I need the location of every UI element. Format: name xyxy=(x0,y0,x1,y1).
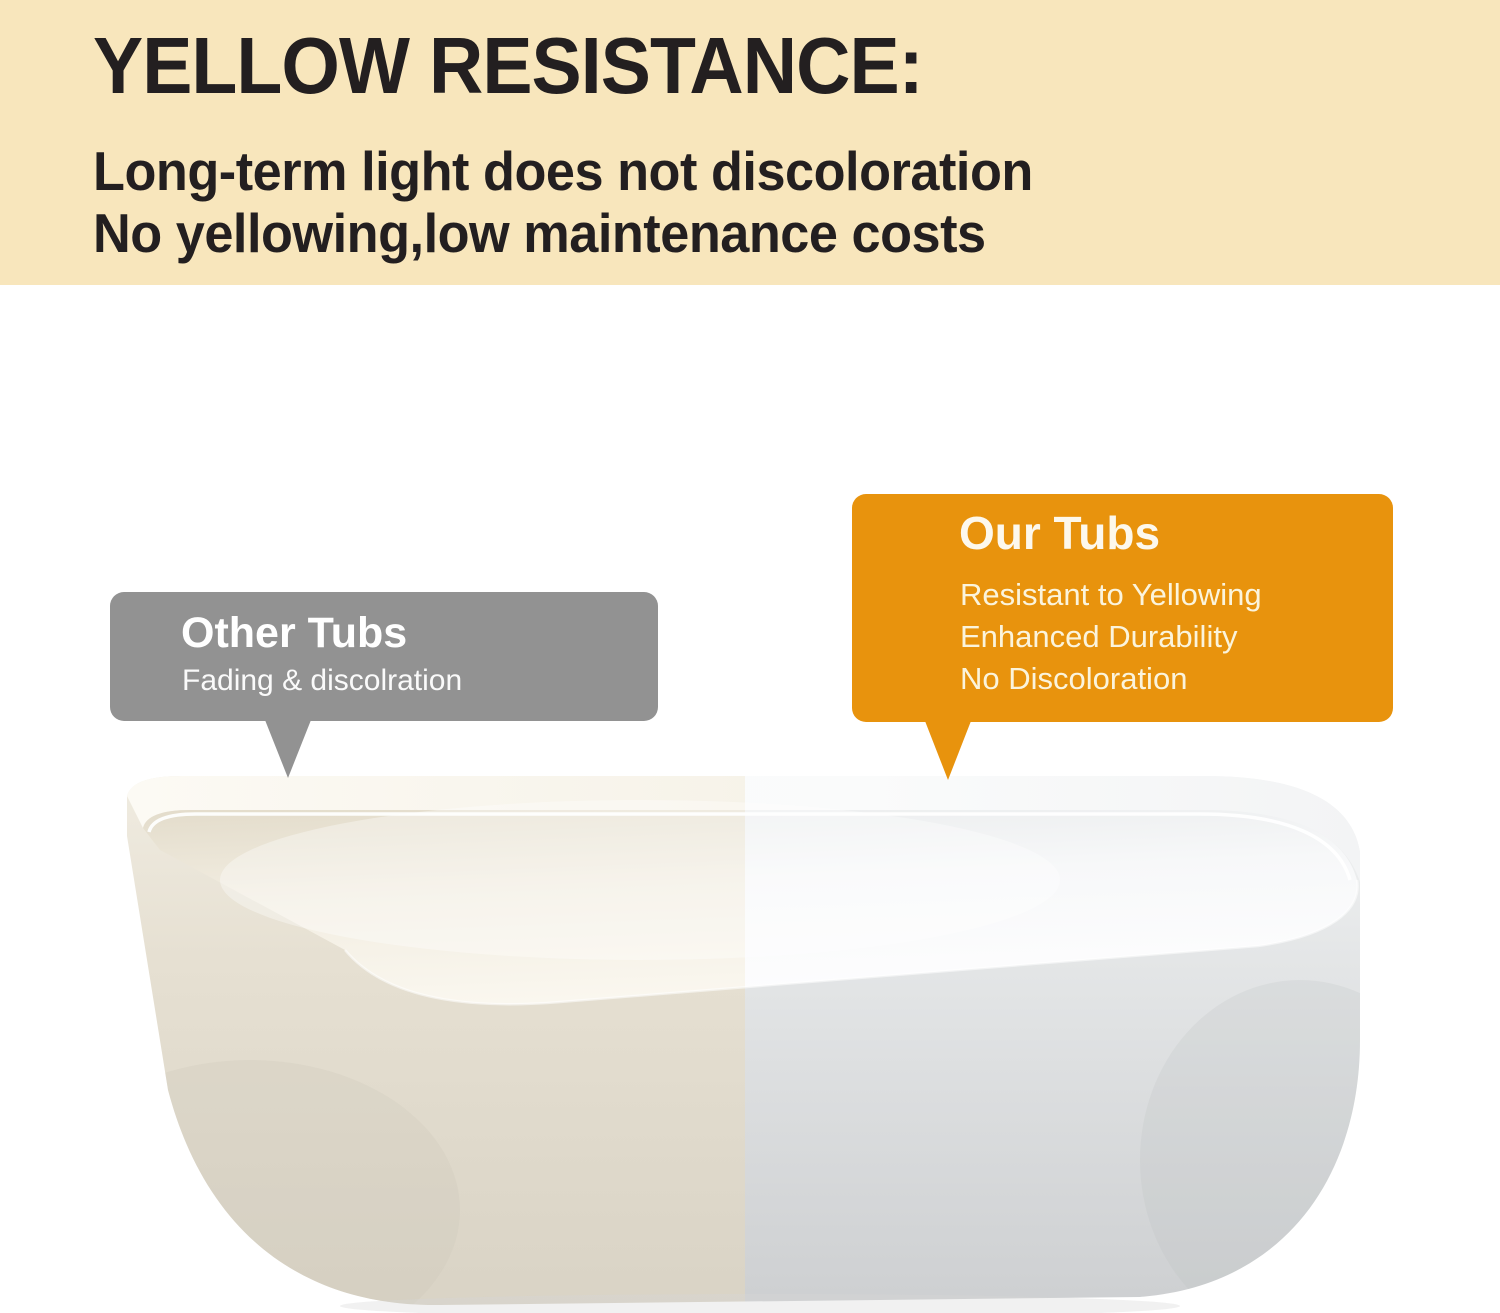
callout-ours-body: Resistant to Yellowing Enhanced Durabili… xyxy=(960,574,1262,700)
header-banner: YELLOW RESISTANCE: Long-term light does … xyxy=(0,0,1500,285)
header-subtitle: Long-term light does not discoloration N… xyxy=(93,140,1033,264)
callout-other-title: Other Tubs xyxy=(181,608,407,658)
callout-ours-title: Our Tubs xyxy=(959,506,1160,560)
callout-other-tubs: Other Tubs Fading & discolration xyxy=(110,592,658,780)
header-subtitle-line-2: No yellowing,low maintenance costs xyxy=(93,202,1033,264)
bathtub-svg xyxy=(0,740,1500,1313)
callout-ours-body-line-1: Resistant to Yellowing xyxy=(960,574,1262,616)
callout-ours-pointer xyxy=(925,721,971,780)
callout-other-body-line-1: Fading & discolration xyxy=(182,662,462,700)
header-subtitle-line-1: Long-term light does not discoloration xyxy=(93,140,1033,202)
bathtub-illustration xyxy=(0,740,1500,1313)
infographic-canvas: YELLOW RESISTANCE: Long-term light does … xyxy=(0,0,1500,1313)
callout-ours-body-line-2: Enhanced Durability xyxy=(960,616,1262,658)
callout-ours-body-line-3: No Discoloration xyxy=(960,658,1262,700)
callout-other-body: Fading & discolration xyxy=(182,662,462,700)
callout-our-tubs: Our Tubs Resistant to Yellowing Enhanced… xyxy=(852,494,1393,782)
page-title: YELLOW RESISTANCE: xyxy=(93,26,923,106)
callout-other-pointer xyxy=(265,720,311,778)
